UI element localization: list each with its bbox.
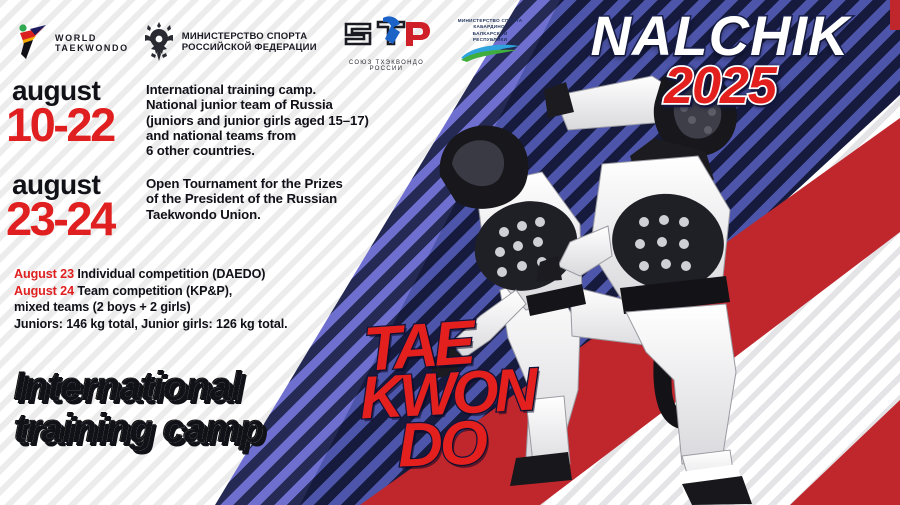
info-block-tournament: august 23-24 Open Tournament for the Pri… — [6, 172, 343, 240]
str-emblem-icon — [338, 14, 434, 59]
tournament-dates: august 23-24 — [6, 172, 146, 240]
detail-date-23: August 23 — [14, 267, 74, 281]
headline-line-1: International — [14, 368, 384, 408]
competition-details: August 23 Individual competition (DAEDO)… — [14, 266, 288, 333]
str-tagline: СОЮЗ ТХЭКВОНДО РОССИИ — [331, 60, 442, 72]
ministry-sport-kbr-label: МИНИСТЕРСТВО СПОРТА КАБАРДИНО-БАЛКАРСКОЙ… — [456, 18, 524, 43]
logo-world-taekwondo: WORLDTAEKWONDO — [14, 21, 129, 66]
detail-text-24: Team competition (KP&P), — [74, 284, 232, 298]
partner-logos-bar: WORLDTAEKWONDO — [14, 12, 524, 74]
world-taekwondo-label: WORLDTAEKWONDO — [55, 33, 129, 53]
tournament-days: 23-24 — [6, 197, 146, 240]
title-year: 2025 — [545, 60, 895, 112]
detail-line-1: August 23 Individual competition (DAEDO) — [14, 266, 288, 283]
tournament-description: Open Tournament for the Prizes of the Pr… — [146, 172, 343, 222]
camp-description: International training camp. National ju… — [146, 78, 369, 159]
info-block-camp: august 10-22 International training camp… — [6, 78, 369, 159]
russian-eagle-icon — [143, 19, 175, 68]
camp-days: 10-22 — [6, 103, 146, 146]
graffiti-taekwondo: TAE KWON DO — [360, 318, 650, 498]
logo-ministry-sport-kbr: МИНИСТЕРСТВО СПОРТА КАБАРДИНО-БАЛКАРСКОЙ… — [456, 18, 524, 68]
detail-line-2: August 24 Team competition (KP&P), — [14, 283, 288, 300]
logo-russian-taekwondo-union: СОЮЗ ТХЭКВОНДО РОССИИ — [331, 14, 442, 72]
logo-ministry-sport-russia: МИНИСТЕРСТВО СПОРТАРОССИЙСКОЙ ФЕДЕРАЦИИ — [143, 19, 317, 68]
poster-root: WORLDTAEKWONDO — [0, 0, 900, 505]
title-city: NALCHIK — [545, 8, 895, 64]
poster-title: NALCHIK 2025 — [545, 8, 895, 112]
camp-dates: august 10-22 — [6, 78, 146, 146]
graffiti-part-do: DO — [397, 414, 486, 474]
detail-line-3: mixed teams (2 boys + 2 girls) — [14, 299, 288, 316]
detail-line-4: Juniors: 146 kg total, Junior girls: 126… — [14, 316, 288, 333]
ministry-sport-russia-label: МИНИСТЕРСТВО СПОРТАРОССИЙСКОЙ ФЕДЕРАЦИИ — [182, 32, 317, 53]
headline-line-2: training camp — [14, 410, 384, 450]
detail-date-24: August 24 — [14, 284, 74, 298]
detail-text-23: Individual competition (DAEDO) — [74, 267, 265, 281]
headline-international-training-camp: International training camp — [14, 368, 384, 449]
world-taekwondo-icon — [14, 21, 48, 66]
kbr-swoosh-icon — [459, 43, 521, 68]
